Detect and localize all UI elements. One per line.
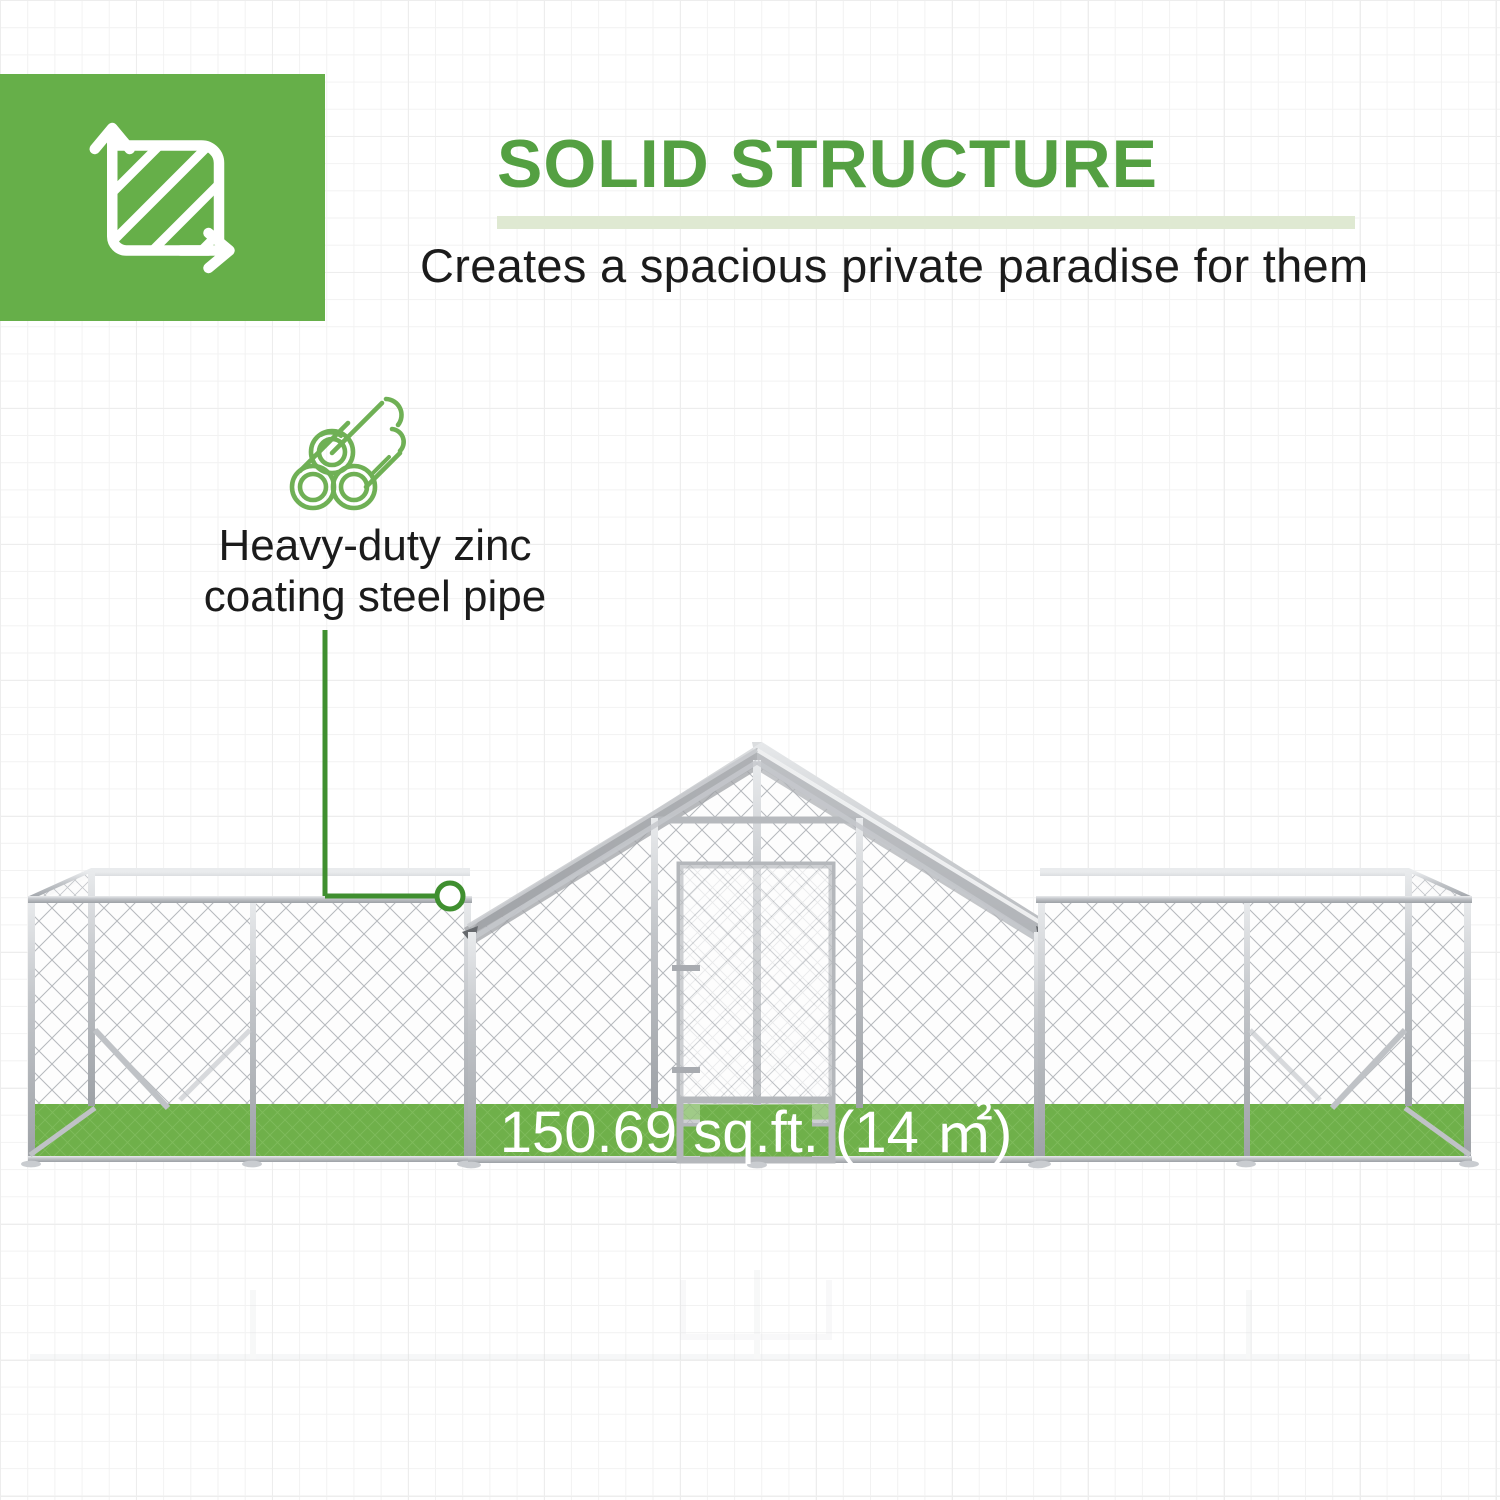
callout-label: Heavy-duty zinc coating steel pipe	[140, 520, 610, 623]
title-divider	[497, 216, 1355, 229]
area-label: 150.69 sq.ft. (14 ㎡)	[500, 1100, 1013, 1165]
connector-endpoint-circle	[437, 883, 463, 909]
area-expand-icon-badge	[0, 74, 325, 321]
callout-label-line2: coating steel pipe	[140, 571, 610, 622]
steel-pipes-icon	[288, 395, 418, 515]
callout-label-line1: Heavy-duty zinc	[140, 520, 610, 571]
page-subtitle: Creates a spacious private paradise for …	[420, 238, 1368, 293]
area-expand-icon	[75, 110, 250, 285]
page-title: SOLID STRUCTURE	[497, 125, 1158, 203]
callout-connector	[260, 620, 520, 970]
right-open-run	[1031, 870, 1479, 1167]
product-illustration: 150.69 sq.ft. (14 ㎡)	[0, 700, 1500, 1260]
